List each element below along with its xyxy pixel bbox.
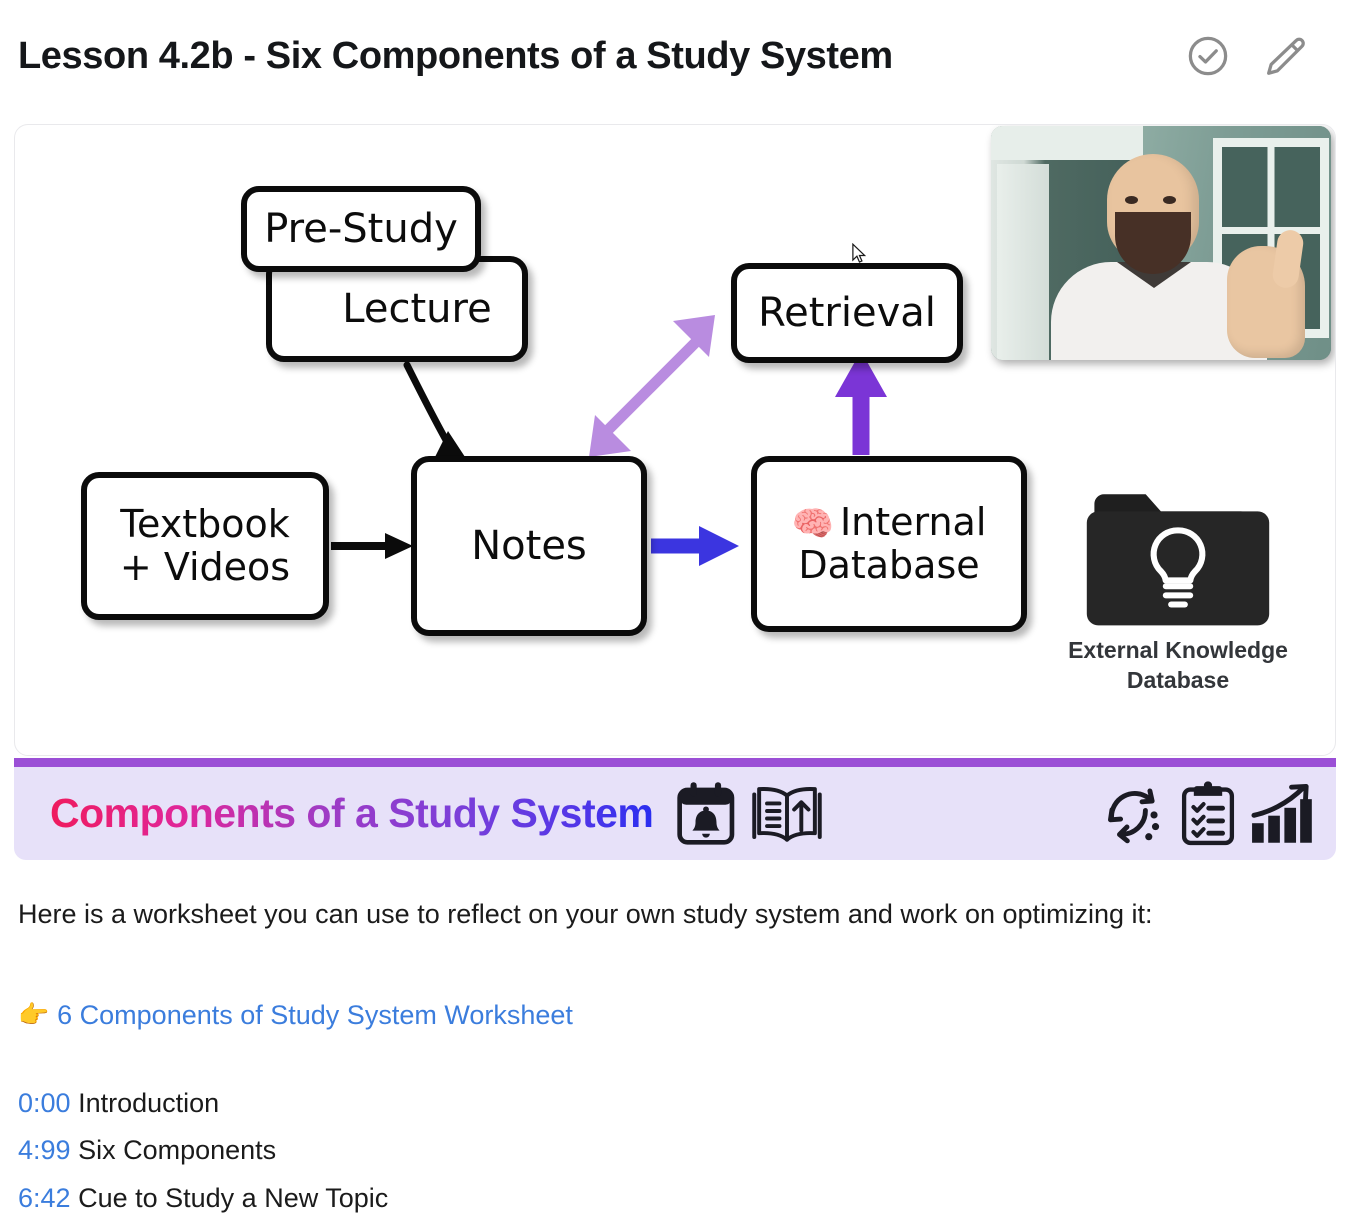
node-label-line1: Textbook bbox=[120, 502, 289, 546]
edge-notes-to-database bbox=[651, 526, 739, 566]
timestamp-time[interactable]: 0:00 bbox=[18, 1088, 71, 1118]
diagram-node-retrieval: Retrieval bbox=[731, 263, 963, 363]
worksheet-link[interactable]: 6 Components of Study System Worksheet bbox=[57, 1000, 573, 1031]
worksheet-link-row[interactable]: 👉 6 Components of Study System Worksheet bbox=[18, 1000, 573, 1031]
brain-icon: 🧠 bbox=[792, 504, 834, 544]
banner-title: Components of a Study System bbox=[50, 790, 653, 837]
external-db-label-line1: External Knowledge bbox=[1068, 637, 1288, 663]
lesson-media-card: Pre-Study Lecture Textbook + Videos Note… bbox=[14, 124, 1336, 756]
check-circle-icon[interactable] bbox=[1185, 33, 1231, 79]
open-book-arrow-icon bbox=[751, 782, 823, 846]
external-knowledge-database: External Knowledge Database bbox=[1063, 477, 1293, 696]
diagram-node-notes: Notes bbox=[411, 456, 647, 636]
clipboard-checklist-icon bbox=[1180, 781, 1236, 847]
edge-textbook-to-notes bbox=[331, 533, 413, 559]
diagram-node-internal-database: 🧠Internal Database bbox=[751, 456, 1027, 632]
study-system-diagram: Pre-Study Lecture Textbook + Videos Note… bbox=[15, 125, 1336, 756]
edge-database-to-retrieval bbox=[835, 351, 887, 455]
timestamp-time[interactable]: 4:99 bbox=[18, 1135, 71, 1165]
webcam-door bbox=[997, 164, 1049, 360]
presenter-webcam-overlay bbox=[991, 126, 1331, 360]
calendar-bell-icon bbox=[675, 781, 737, 847]
pencil-icon[interactable] bbox=[1261, 33, 1307, 79]
node-label: Notes bbox=[471, 524, 587, 569]
complete-lesson-button[interactable] bbox=[1185, 33, 1231, 79]
node-label-line1: Internal bbox=[840, 500, 986, 544]
banner-icons-left bbox=[675, 781, 823, 847]
list-item[interactable]: 0:00 Introduction bbox=[18, 1080, 388, 1127]
timestamp-time[interactable]: 6:42 bbox=[18, 1183, 71, 1213]
edge-lecture-to-notes bbox=[407, 365, 467, 460]
folder-lightbulb-icon bbox=[1083, 477, 1273, 637]
page-header: Lesson 4.2b - Six Components of a Study … bbox=[0, 0, 1351, 112]
node-label-line2: Database bbox=[798, 543, 979, 587]
study-system-banner: Components of a Study System bbox=[14, 758, 1336, 860]
diagram-node-textbook: Textbook + Videos bbox=[81, 472, 329, 620]
edge-notes-retrieval-bidirectional bbox=[589, 315, 715, 457]
node-label: Retrieval bbox=[758, 291, 936, 336]
timestamp-label: Six Components bbox=[78, 1135, 276, 1165]
edit-lesson-button[interactable] bbox=[1261, 33, 1307, 79]
diagram-node-prestudy: Pre-Study bbox=[241, 186, 481, 272]
header-actions bbox=[1185, 33, 1333, 79]
refresh-cycle-icon bbox=[1104, 783, 1168, 845]
timestamp-list: 0:00 Introduction 4:99 Six Components 6:… bbox=[18, 1080, 388, 1222]
page-title: Lesson 4.2b - Six Components of a Study … bbox=[18, 35, 893, 78]
timestamp-label: Introduction bbox=[78, 1088, 219, 1118]
node-label: Lecture bbox=[342, 287, 491, 332]
pointing-hand-icon: 👉 bbox=[18, 1001, 49, 1030]
banner-icons-right bbox=[1104, 781, 1320, 847]
node-label-wrap: 🧠Internal Database bbox=[792, 501, 987, 586]
list-item[interactable]: 6:42 Cue to Study a New Topic bbox=[18, 1175, 388, 1222]
body-paragraph: Here is a worksheet you can use to refle… bbox=[18, 893, 1218, 937]
node-label: Pre-Study bbox=[264, 207, 458, 252]
webcam-presenter-eye-right bbox=[1163, 196, 1176, 204]
list-item[interactable]: 4:99 Six Components bbox=[18, 1127, 388, 1174]
node-label-line2: + Videos bbox=[120, 545, 290, 589]
bar-chart-growth-icon bbox=[1248, 783, 1314, 845]
timestamp-label: Cue to Study a New Topic bbox=[78, 1183, 388, 1213]
webcam-presenter-eye-left bbox=[1125, 196, 1138, 204]
node-label-wrap: Textbook + Videos bbox=[120, 503, 290, 588]
external-db-label-line2: Database bbox=[1127, 667, 1229, 693]
